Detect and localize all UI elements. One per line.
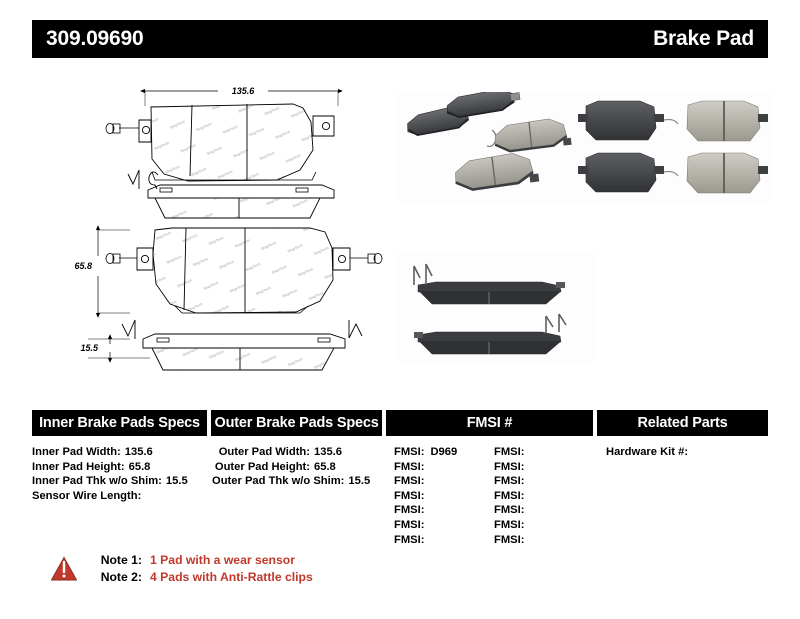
spec-row: Outer Pad Height: 65.8 — [212, 460, 384, 475]
fmsi-label: FMSI: — [394, 533, 430, 548]
pad-middle-view — [106, 228, 382, 313]
note-text: 4 Pads with Anti-Rattle clips — [150, 569, 313, 586]
spec-label: Outer Pad Height: — [212, 460, 314, 475]
product-photo-edge-view-clips — [396, 252, 596, 362]
fmsi-label: FMSI: — [394, 489, 430, 504]
header-fmsi: FMSI # — [386, 410, 593, 436]
fmsi-row: FMSI: — [394, 489, 494, 504]
fmsi-label: FMSI: — [494, 445, 530, 460]
spec-label: Inner Pad Height: — [32, 460, 129, 475]
warning-triangle-icon — [50, 556, 78, 582]
spec-value: 15.5 — [348, 474, 388, 489]
fmsi-cell: FMSI: D969 FMSI: FMSI: FMSI: — [388, 445, 594, 547]
fmsi-label: FMSI: — [494, 460, 530, 475]
fmsi-row: FMSI: — [394, 460, 494, 475]
related-parts-cell: Hardware Kit #: — [598, 445, 768, 547]
fmsi-row: FMSI: — [394, 474, 494, 489]
fmsi-row: FMSI: — [494, 503, 594, 518]
fmsi-row: FMSI: — [394, 518, 494, 533]
fmsi-label: FMSI: — [394, 445, 430, 460]
wear-sensor-connector — [106, 124, 139, 134]
notes-list: Note 1: 1 Pad with a wear sensor Note 2:… — [90, 552, 313, 586]
spec-value — [145, 489, 185, 504]
fmsi-label: FMSI: — [494, 503, 530, 518]
fmsi-label: FMSI: — [494, 474, 530, 489]
spec-row: Inner Pad Width: 135.6 — [32, 445, 208, 460]
fmsi-row: FMSI: D969 — [394, 445, 494, 460]
spec-value: 135.6 — [125, 445, 165, 460]
spec-value: 135.6 — [314, 445, 354, 460]
spec-row: Inner Pad Height: 65.8 — [32, 460, 208, 475]
fmsi-label: FMSI: — [494, 533, 530, 548]
related-part-label: Hardware Kit #: — [606, 446, 688, 458]
note-row: Note 1: 1 Pad with a wear sensor — [90, 552, 313, 569]
note-row: Note 2: 4 Pads with Anti-Rattle clips — [90, 569, 313, 586]
pad-top-view — [106, 104, 334, 181]
dimension-height — [98, 230, 130, 313]
fmsi-column-1: FMSI: D969 FMSI: FMSI: FMSI: — [394, 445, 494, 547]
spec-label: Outer Pad Thk w/o Shim: — [212, 474, 348, 489]
header-inner-specs: Inner Brake Pads Specs — [32, 410, 207, 436]
dim-thickness-label: 15.5 — [80, 343, 99, 353]
spec-table-header-row: Inner Brake Pads Specs Outer Brake Pads … — [32, 410, 768, 436]
part-number: 309.09690 — [46, 27, 143, 51]
spec-value: 15.5 — [166, 474, 206, 489]
note-label: Note 2: — [90, 569, 150, 586]
dim-height-label: 65.8 — [74, 261, 92, 271]
spec-value: 65.8 — [314, 460, 354, 475]
fmsi-value: D969 — [430, 445, 457, 460]
spec-row: Outer Pad Width: 135.6 — [212, 445, 384, 460]
fmsi-row: FMSI: — [494, 445, 594, 460]
product-photo-pad-set-grid — [572, 92, 772, 202]
fmsi-label: FMSI: — [394, 503, 430, 518]
outer-specs-cell: Outer Pad Width: 135.6 Outer Pad Height:… — [212, 445, 384, 547]
fmsi-row: FMSI: — [494, 474, 594, 489]
header-outer-specs: Outer Brake Pads Specs — [211, 410, 382, 436]
spec-row: Sensor Wire Length: — [32, 489, 208, 504]
spec-label: Sensor Wire Length: — [32, 489, 145, 504]
spec-label: Inner Pad Width: — [32, 445, 125, 460]
header-bar: 309.09690 Brake Pad — [32, 20, 768, 58]
inner-specs-cell: Inner Pad Width: 135.6 Inner Pad Height:… — [32, 445, 208, 547]
fmsi-row: FMSI: — [494, 489, 594, 504]
product-type: Brake Pad — [653, 27, 754, 51]
fmsi-label: FMSI: — [394, 474, 430, 489]
spec-row: Outer Pad Thk w/o Shim: 15.5 — [212, 474, 384, 489]
note-label: Note 1: — [90, 552, 150, 569]
fmsi-label: FMSI: — [494, 489, 530, 504]
fmsi-label: FMSI: — [394, 460, 430, 475]
fmsi-row: FMSI: — [494, 533, 594, 548]
fmsi-row: FMSI: — [494, 518, 594, 533]
header-related-parts: Related Parts — [597, 410, 768, 436]
spec-label: Inner Pad Thk w/o Shim: — [32, 474, 166, 489]
fmsi-row: FMSI: — [394, 533, 494, 548]
spec-row: Inner Pad Thk w/o Shim: 15.5 — [32, 474, 208, 489]
spec-value: 65.8 — [129, 460, 169, 475]
spec-table-body: Inner Pad Width: 135.6 Inner Pad Height:… — [32, 436, 768, 547]
fmsi-row: FMSI: — [494, 460, 594, 475]
pad-edge-view — [122, 320, 362, 370]
dim-width-label: 135.6 — [232, 86, 256, 96]
fmsi-column-2: FMSI: FMSI: FMSI: FMSI: — [494, 445, 594, 547]
spec-label: Outer Pad Width: — [212, 445, 314, 460]
note-text: 1 Pad with a wear sensor — [150, 552, 295, 569]
related-part-row: Hardware Kit #: — [598, 445, 768, 460]
fmsi-label: FMSI: — [494, 518, 530, 533]
fmsi-row: FMSI: — [394, 503, 494, 518]
notes-section: Note 1: 1 Pad with a wear sensor Note 2:… — [50, 552, 313, 586]
product-photo-angled-pads — [396, 92, 576, 202]
spec-table: Inner Brake Pads Specs Outer Brake Pads … — [32, 410, 768, 547]
fmsi-label: FMSI: — [394, 518, 430, 533]
